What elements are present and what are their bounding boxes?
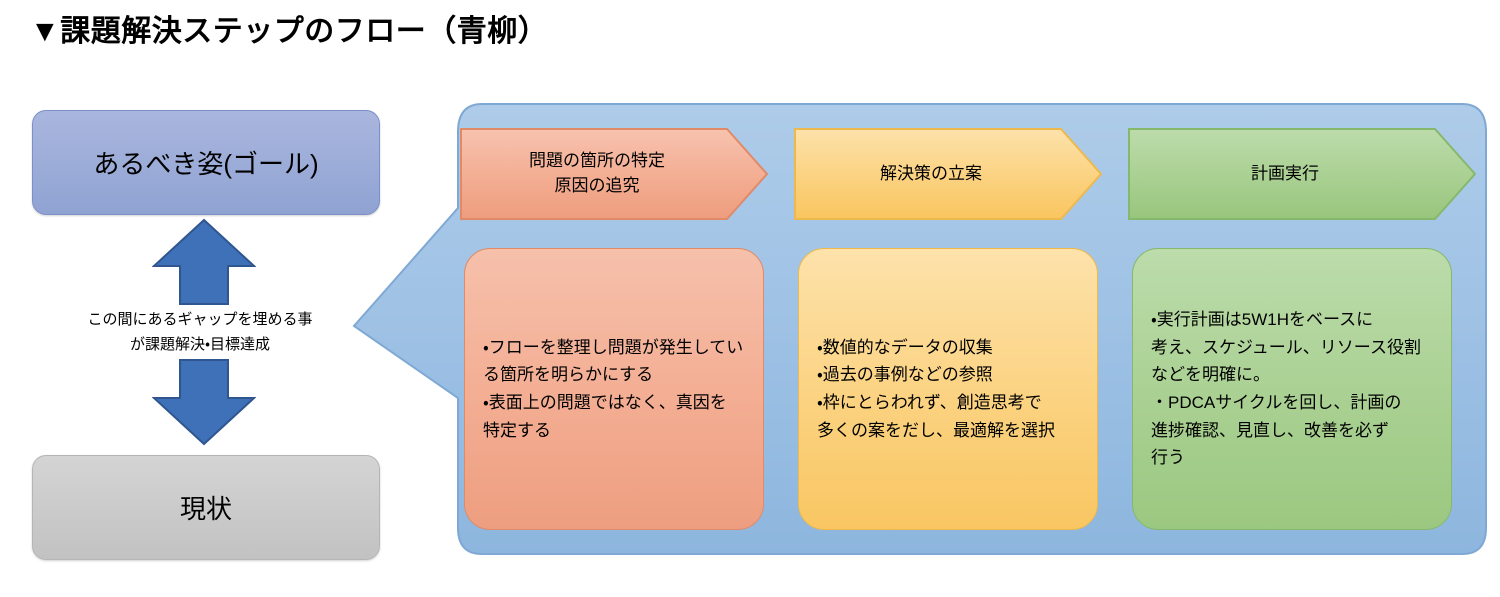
- step-panel-problem-identification: ・フローを整理し問題が発生してい る箇所を明らかにする ・表面上の問題ではなく、…: [464, 248, 764, 530]
- flow-callout-container: 問題の箇所の特定 原因の追究 ・フローを整理し問題が発生してい る箇所を明らかに…: [352, 98, 1492, 560]
- step-header-solution-planning[interactable]: 解決策の立案: [794, 128, 1102, 220]
- step-header-plan-execution[interactable]: 計画実行: [1128, 128, 1476, 220]
- chevron-right-icon: [794, 128, 1102, 220]
- step-bullet-line: などを明確に。: [1151, 361, 1433, 389]
- goal-state-label: あるべき姿(ゴール): [93, 144, 318, 181]
- goal-state-box: あるべき姿(ゴール): [32, 110, 380, 215]
- step-panel-solution-planning: ・数値的なデータの収集 ・過去の事例などの参照 ・枠にとらわれず、創造思考で 多…: [798, 248, 1098, 530]
- step-bullet-line: 特定する: [483, 417, 745, 445]
- step-bullet-line: ・表面上の問題ではなく、真因を: [483, 389, 745, 417]
- gap-caption: この間にあるギャップを埋める事 が課題解決・目標達成: [20, 308, 380, 358]
- step-bullet-line: る箇所を明らかにする: [483, 361, 745, 389]
- gap-caption-line-2: が課題解決・目標達成: [20, 333, 380, 358]
- step-bullet-line: ・実行計画は5W1Hをベースに: [1151, 306, 1433, 334]
- chevron-right-icon: [460, 128, 768, 220]
- current-state-box: 現状: [32, 455, 380, 560]
- page-title: ▼課題解決ステップのフロー（青柳）: [30, 14, 548, 50]
- step-panel-plan-execution: ・実行計画は5W1Hをベースに 考え、スケジュール、リソース役割 などを明確に。…: [1132, 248, 1452, 530]
- step-bullet-line: 考え、スケジュール、リソース役割: [1151, 334, 1433, 362]
- step-bullet-line: 進捗確認、見直し、改善を必ず: [1151, 417, 1433, 445]
- flow-steps: 問題の箇所の特定 原因の追究 ・フローを整理し問題が発生してい る箇所を明らかに…: [460, 118, 1476, 540]
- step-bullet-line: 行う: [1151, 444, 1433, 472]
- step-bullet-line: ・数値的なデータの収集: [817, 334, 1079, 362]
- step-bullet-line: 多くの案をだし、最適解を選択: [817, 417, 1079, 445]
- arrow-up-icon: [152, 218, 256, 306]
- arrow-down-icon: [152, 358, 256, 446]
- step-bullet-line: ・過去の事例などの参照: [817, 361, 1079, 389]
- current-state-label: 現状: [180, 489, 232, 526]
- step-bullet-line: ・フローを整理し問題が発生してい: [483, 334, 745, 362]
- gap-caption-line-1: この間にあるギャップを埋める事: [20, 308, 380, 333]
- chevron-right-icon: [1128, 128, 1476, 220]
- step-bullet-line: ・枠にとらわれず、創造思考で: [817, 389, 1079, 417]
- step-header-problem-identification[interactable]: 問題の箇所の特定 原因の追究: [460, 128, 768, 220]
- step-bullet-line: ・PDCAサイクルを回し、計画の: [1151, 389, 1433, 417]
